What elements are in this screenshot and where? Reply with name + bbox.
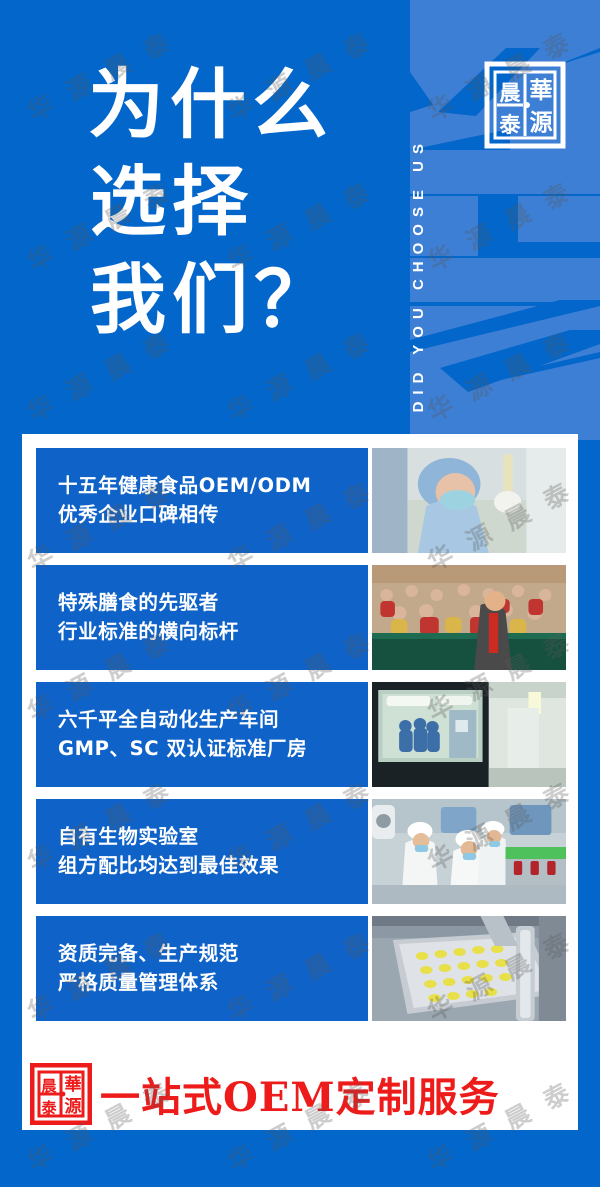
feature-card-1[interactable]: 十五年健康食品OEM/ODM 优秀企业口碑相传 <box>36 448 368 553</box>
feature-3-line-1: 六千平全自动化生产车间 <box>58 706 368 735</box>
feature-5-line-2: 严格质量管理体系 <box>58 969 368 998</box>
list-item[interactable]: 十五年健康食品OEM/ODM 优秀企业口碑相传 <box>36 448 566 553</box>
features-list: 十五年健康食品OEM/ODM 优秀企业口碑相传 <box>36 448 566 1021</box>
footer-seal-icon: 華 源 晨 泰 <box>30 1063 92 1125</box>
title-line-1: 为什么 <box>88 56 336 153</box>
feature-5-line-1: 资质完备、生产规范 <box>58 940 368 969</box>
vertical-english-caption: DID YOU CHOOSE US <box>404 22 432 412</box>
svg-text:泰: 泰 <box>40 1099 57 1117</box>
feature-4-line-2: 组方配比均达到最佳效果 <box>58 852 368 881</box>
svg-text:源: 源 <box>530 109 553 136</box>
svg-text:華: 華 <box>65 1075 82 1095</box>
feature-3-image <box>372 682 566 787</box>
feature-3-line-2: GMP、SC 双认证标准厂房 <box>58 735 368 764</box>
svg-text:泰: 泰 <box>499 112 522 137</box>
feature-4-line-1: 自有生物实验室 <box>58 823 368 852</box>
title-line-2: 选择 <box>88 153 336 250</box>
feature-card-4[interactable]: 自有生物实验室 组方配比均达到最佳效果 <box>36 799 368 904</box>
list-item[interactable]: 特殊膳食的先驱者 行业标准的横向标杆 <box>36 565 566 670</box>
feature-2-line-2: 行业标准的横向标杆 <box>58 618 368 647</box>
svg-text:晨: 晨 <box>500 80 522 105</box>
title-line-3: 我们？ <box>88 251 336 348</box>
feature-card-2[interactable]: 特殊膳食的先驱者 行业标准的横向标杆 <box>36 565 368 670</box>
feature-card-5[interactable]: 资质完备、生产规范 严格质量管理体系 <box>36 916 368 1021</box>
feature-5-image <box>372 916 566 1021</box>
feature-1-line-2: 优秀企业口碑相传 <box>58 501 368 530</box>
brand-seal-icon: 華 源 晨 泰 <box>484 60 566 150</box>
list-item[interactable]: 自有生物实验室 组方配比均达到最佳效果 <box>36 799 566 904</box>
vertical-english-text: DID YOU CHOOSE US <box>410 137 427 412</box>
features-panel: 十五年健康食品OEM/ODM 优秀企业口碑相传 <box>22 434 578 1130</box>
list-item[interactable]: 六千平全自动化生产车间 GMP、SC 双认证标准厂房 <box>36 682 566 787</box>
feature-2-image <box>372 565 566 670</box>
list-item[interactable]: 资质完备、生产规范 严格质量管理体系 <box>36 916 566 1021</box>
svg-text:華: 華 <box>530 77 553 104</box>
svg-text:源: 源 <box>65 1096 82 1117</box>
feature-2-line-1: 特殊膳食的先驱者 <box>58 589 368 618</box>
feature-1-image <box>372 448 566 553</box>
page-title: 为什么 选择 我们？ <box>88 56 336 348</box>
feature-4-image <box>372 799 566 904</box>
svg-text:晨: 晨 <box>41 1077 57 1095</box>
feature-card-3[interactable]: 六千平全自动化生产车间 GMP、SC 双认证标准厂房 <box>36 682 368 787</box>
footer-banner: 華 源 晨 泰 一站式OEM定制服务 <box>22 1058 578 1130</box>
footer-slogan: 一站式OEM定制服务 <box>100 1065 500 1123</box>
poster-root: 为什么 选择 我们？ DID YOU CHOOSE US 華 源 晨 泰 十五年… <box>0 0 600 1187</box>
feature-1-line-1: 十五年健康食品OEM/ODM <box>58 472 368 501</box>
